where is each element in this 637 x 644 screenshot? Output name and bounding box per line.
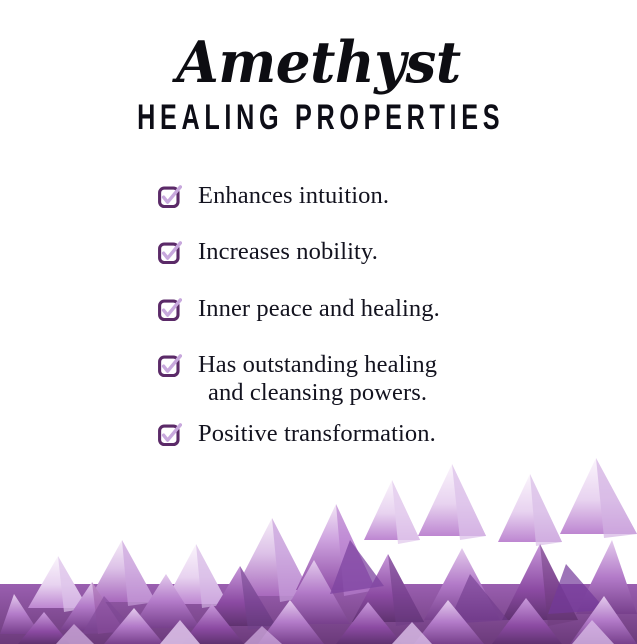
- crystal-cluster-illustration: [0, 444, 637, 644]
- poster-canvas: Amethyst HEALING PROPERTIES Enhances int…: [0, 0, 637, 644]
- healing-properties-list: Enhances intuition. Increases nobility. …: [0, 182, 637, 448]
- page-title: Amethyst: [13, 34, 625, 91]
- page-subtitle: HEALING PROPERTIES: [89, 100, 548, 135]
- list-item-label: Has outstanding healing and cleansing po…: [198, 351, 437, 406]
- list-item-label: Positive transformation.: [198, 420, 436, 447]
- list-item-label: Increases nobility.: [198, 238, 378, 265]
- amethyst-crystal-cluster: [0, 444, 637, 644]
- checked-checkbox-icon: [158, 354, 182, 378]
- checked-checkbox-icon: [158, 298, 182, 322]
- list-item-label: Enhances intuition.: [198, 182, 389, 209]
- list-item: Has outstanding healing and cleansing po…: [0, 351, 637, 406]
- checked-checkbox-icon: [158, 241, 182, 265]
- checked-checkbox-icon: [158, 185, 182, 209]
- list-item: Enhances intuition.: [0, 182, 637, 209]
- header: Amethyst HEALING PROPERTIES: [0, 0, 637, 135]
- list-item: Inner peace and healing.: [0, 295, 637, 322]
- list-item: Positive transformation.: [0, 420, 637, 447]
- checked-checkbox-icon: [158, 423, 182, 447]
- list-item-label: Inner peace and healing.: [198, 295, 440, 322]
- list-item: Increases nobility.: [0, 238, 637, 265]
